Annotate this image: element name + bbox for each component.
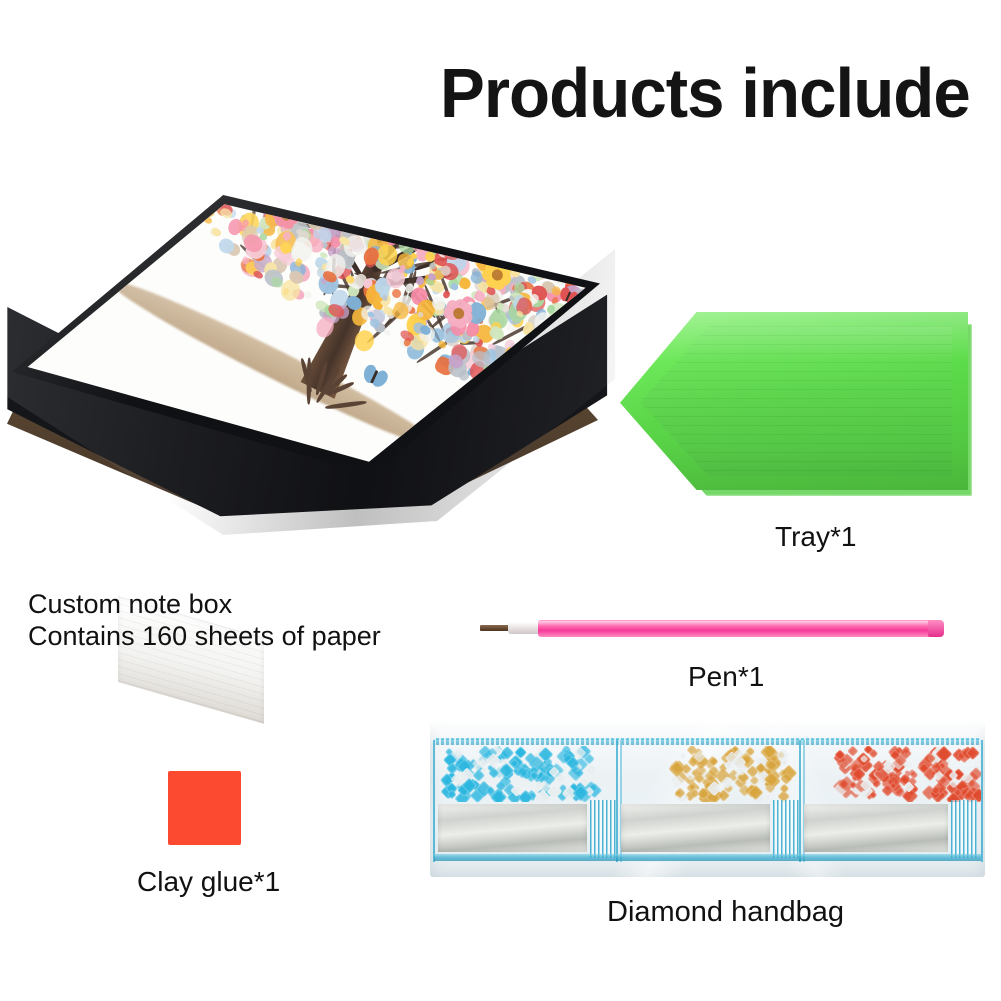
tree-blossom — [202, 195, 215, 202]
tree-blossom — [444, 195, 469, 216]
tree-blossom — [332, 195, 349, 198]
tree-flower-petal — [345, 201, 358, 215]
tree-blossom — [489, 195, 500, 200]
tree-twig — [384, 195, 394, 202]
diamond-handbag-caption: Diamond handbag — [607, 896, 844, 928]
tree-blossom — [506, 209, 525, 230]
tree-blossom — [403, 195, 418, 200]
tree-blossom — [601, 236, 606, 248]
tree-blossom — [342, 195, 364, 197]
tree-blossom — [352, 211, 362, 221]
tree-blossom — [412, 210, 423, 221]
tree-flower-petal — [532, 236, 549, 254]
tree-blossom — [472, 195, 495, 211]
tree-blossom — [585, 202, 598, 215]
tree-blossom — [481, 195, 495, 196]
tree-flower-petal — [540, 220, 557, 238]
tree-blossom — [459, 201, 468, 210]
tree-blossom — [487, 240, 495, 247]
tree-blossom — [465, 225, 484, 244]
rhinestone-fill — [618, 746, 803, 802]
product-pen — [480, 612, 950, 646]
tree-blossom — [516, 203, 526, 213]
tree-blossom — [372, 198, 381, 206]
note-box-caption: Custom note box Contains 160 sheets of p… — [28, 588, 381, 652]
foil-sachet — [621, 804, 770, 852]
tree-blossom — [456, 215, 469, 227]
tree-flower-petal — [574, 195, 587, 199]
tree-blossom — [540, 228, 561, 251]
tree-blossom — [541, 234, 551, 246]
tree-twig — [388, 199, 405, 228]
tree-blossom — [516, 201, 539, 224]
tree-blossom — [482, 208, 494, 220]
tree-blossom — [200, 195, 219, 200]
tree-blossom — [202, 195, 217, 196]
tree-blossom — [565, 217, 575, 228]
tree-blossom — [503, 241, 515, 253]
tree-blossom — [549, 208, 568, 227]
tray-caption: Tray*1 — [775, 521, 856, 553]
tree-blossom — [582, 219, 591, 229]
tree-flower-petal — [585, 195, 598, 196]
tree-blossom — [452, 212, 464, 225]
tree-blossom — [544, 200, 565, 221]
tree-blossom — [443, 210, 464, 233]
tree-blossom — [574, 238, 597, 262]
rhinestone — [679, 752, 688, 761]
tree-twig — [313, 195, 326, 200]
tree-blossom — [383, 221, 392, 231]
pouch-seam-ribs — [951, 800, 977, 858]
tree-blossom — [339, 203, 359, 222]
tree-blossom — [457, 195, 482, 210]
tree-blossom — [586, 254, 594, 262]
tree-flower-petal — [438, 206, 455, 224]
tree-blossom — [363, 200, 375, 212]
tree-twig — [385, 211, 399, 235]
tree-blossom — [584, 195, 600, 205]
tree-blossom — [513, 224, 524, 236]
tree-blossom — [432, 207, 449, 226]
tree-blossom — [437, 212, 453, 228]
tree-flower-petal — [431, 195, 448, 211]
tree-blossom — [438, 235, 450, 247]
tree-blossom — [336, 202, 354, 220]
tree-blossom — [502, 210, 524, 232]
tree-blossom — [589, 195, 606, 216]
tree-blossom — [483, 242, 491, 250]
tree-blossom — [312, 195, 327, 198]
tree-blossom — [588, 195, 599, 197]
tree-blossom — [598, 208, 606, 216]
tree-blossom — [574, 221, 585, 233]
tree-blossom — [294, 195, 315, 204]
tree-blossom — [395, 202, 417, 226]
tree-blossom — [303, 195, 316, 208]
tree-blossom — [355, 195, 379, 207]
tray-gloss — [620, 312, 968, 490]
bag-pouch — [616, 740, 805, 862]
tree-blossom — [300, 200, 314, 215]
tree-blossom — [416, 195, 440, 204]
tree-blossom — [478, 233, 489, 243]
tree-blossom — [392, 195, 410, 212]
tree-blossom — [391, 224, 404, 237]
tree-blossom — [573, 228, 586, 240]
clay-glue-caption: Clay glue*1 — [137, 866, 280, 898]
infographic-canvas: Products include Custom note box Contain… — [0, 0, 1001, 1001]
tree-blossom — [581, 234, 594, 247]
tree-blossom — [519, 208, 535, 225]
tree-blossom — [535, 195, 554, 202]
tree-blossom — [464, 225, 478, 240]
pen-caption: Pen*1 — [688, 661, 764, 693]
tree-blossom — [487, 208, 514, 238]
tree-blossom — [200, 202, 208, 210]
tree-blossom — [567, 225, 584, 241]
product-note-box — [0, 185, 620, 585]
tree-blossom — [522, 249, 539, 267]
tree-flower-petal — [424, 209, 441, 227]
tree-blossom — [473, 195, 499, 206]
tree-blossom — [548, 197, 568, 216]
tree-blossom — [511, 203, 534, 228]
tree-blossom — [602, 201, 606, 223]
tree-blossom — [554, 211, 576, 234]
tree-blossom — [501, 244, 511, 254]
tree-flower-petal — [423, 195, 440, 212]
tree-blossom — [524, 242, 541, 259]
tree-blossom — [381, 195, 399, 211]
tree-blossom — [484, 208, 509, 236]
tree-flower-petal — [332, 204, 345, 218]
tree-flower-center — [539, 231, 554, 246]
bag-bottom-seam — [434, 854, 981, 861]
tree-blossom — [190, 195, 204, 205]
tree-blossom — [552, 207, 567, 223]
tree-blossom — [571, 214, 590, 233]
tree-blossom — [532, 195, 551, 208]
tree-blossom — [537, 230, 559, 251]
tree-blossom — [442, 210, 465, 235]
tree-blossom — [441, 201, 463, 224]
tree-blossom — [507, 210, 527, 232]
rhinestone — [869, 748, 879, 758]
tree-blossom — [444, 195, 467, 210]
tree-blossom — [402, 209, 415, 221]
tree-blossom — [388, 197, 412, 224]
tree-blossom — [411, 195, 434, 208]
tree-flower-petal — [580, 195, 593, 200]
tree-flower-petal — [340, 197, 353, 211]
tree-blossom — [498, 195, 521, 207]
tree-flower-petal — [532, 221, 549, 239]
tree-blossom — [524, 195, 534, 199]
tree-blossom — [465, 195, 478, 199]
tree-blossom — [394, 195, 412, 204]
tree-blossom — [409, 220, 417, 228]
pen-end-cap — [928, 620, 944, 637]
tree-blossom — [485, 195, 498, 196]
tree-blossom — [343, 195, 356, 205]
tree-blossom — [446, 204, 470, 229]
tree-blossom — [586, 244, 596, 255]
tree-blossom — [420, 204, 445, 230]
tree-twig — [471, 245, 509, 251]
tree-blossom — [520, 238, 541, 259]
tree-blossom — [540, 203, 563, 225]
tree-flower-petal — [438, 198, 455, 216]
tree-blossom — [595, 236, 606, 254]
tree-blossom — [321, 195, 333, 202]
tree-flower-petal — [334, 199, 347, 213]
pen-ferrule — [508, 622, 542, 634]
tree-blossom — [416, 200, 430, 216]
product-clay-glue — [168, 771, 241, 845]
tree-blossom — [488, 209, 512, 234]
tree-blossom — [586, 218, 596, 229]
rhinestone-fill — [435, 746, 620, 802]
pen-metal-tip — [480, 625, 510, 631]
tree-blossom — [423, 209, 448, 237]
tree-flower-petal — [546, 233, 563, 251]
tree-flower-petal — [528, 229, 545, 247]
foil-sachet — [438, 804, 587, 852]
tree-blossom — [543, 252, 556, 265]
tree-blossom — [425, 195, 449, 197]
tree-flower-center — [431, 204, 446, 219]
tree-blossom — [457, 224, 466, 233]
tree-blossom — [595, 234, 606, 245]
tree-twig — [419, 212, 425, 237]
tree-blossom — [366, 204, 390, 230]
tree-twig — [329, 199, 343, 222]
tree-blossom — [513, 195, 535, 198]
tree-blossom — [553, 195, 576, 220]
tree-flower-petal — [420, 202, 437, 220]
tree-blossom — [499, 234, 515, 249]
tree-blossom — [527, 208, 548, 228]
tree-blossom — [359, 195, 384, 208]
tree-blossom — [373, 195, 395, 208]
tree-blossom — [358, 195, 380, 213]
tree-flower-petal — [346, 208, 359, 222]
tree-blossom — [564, 195, 584, 199]
tree-blossom — [559, 203, 577, 220]
tree-blossom — [547, 227, 564, 246]
tree-twig — [456, 218, 469, 232]
bag-pouch — [799, 740, 983, 862]
tree-blossom — [300, 195, 307, 201]
tree-blossom — [549, 229, 563, 243]
tree-blossom — [343, 200, 352, 209]
tree-blossom — [437, 229, 448, 240]
tree-twig — [366, 195, 376, 197]
tree-blossom — [470, 195, 492, 207]
tree-blossom — [487, 195, 499, 202]
tree-blossom — [394, 221, 402, 230]
pen-highlight — [538, 621, 938, 626]
tree-flower-petal — [540, 238, 557, 256]
tree-blossom — [421, 195, 443, 205]
tree-blossom — [500, 214, 523, 235]
tree-blossom — [429, 208, 441, 220]
bag-pouch — [433, 740, 622, 862]
tree-blossom — [482, 221, 491, 231]
tree-branch — [391, 195, 415, 214]
tree-blossom — [544, 208, 552, 216]
tree-blossom — [506, 242, 520, 256]
tree-blossom — [509, 195, 521, 207]
tree-blossom — [277, 195, 296, 198]
rhinestone — [764, 793, 772, 801]
tree-blossom — [476, 241, 483, 248]
tree-blossom — [595, 226, 606, 244]
tree-blossom — [426, 220, 437, 232]
tree-blossom — [581, 195, 606, 215]
tree-blossom — [555, 195, 580, 197]
tree-twig — [371, 195, 389, 228]
tree-branch — [408, 195, 472, 247]
tree-blossom — [368, 195, 391, 218]
tree-blossom — [449, 229, 466, 247]
tree-blossom — [447, 195, 459, 197]
rhinestone-fill — [801, 746, 981, 802]
tree-blossom — [297, 195, 317, 207]
tree-blossom — [472, 208, 486, 223]
tree-blossom — [482, 221, 496, 234]
tree-blossom — [462, 225, 473, 237]
tree-blossom — [369, 195, 377, 201]
tree-blossom — [285, 195, 295, 199]
tree-blossom — [292, 195, 315, 199]
tree-blossom — [444, 220, 463, 239]
pouch-seam-ribs — [773, 800, 799, 858]
tree-blossom — [442, 199, 458, 214]
tree-blossom — [557, 255, 569, 268]
tree-blossom — [532, 231, 557, 256]
tree-twig — [416, 195, 429, 207]
tree-flower-petal — [432, 211, 449, 229]
product-diamond-handbag — [430, 722, 985, 877]
tree-blossom — [492, 195, 503, 199]
tree-flower-petal — [546, 225, 563, 243]
diamond-handbag-bag — [430, 722, 985, 877]
tree-blossom — [539, 210, 556, 229]
tree-twig — [383, 203, 406, 208]
page-title: Products include — [440, 58, 987, 128]
tree-blossom — [568, 247, 581, 260]
tree-blossom — [571, 217, 597, 244]
tree-flower-center — [338, 204, 353, 219]
tree-branch — [362, 195, 373, 227]
tree-blossom — [500, 217, 514, 231]
tree-blossom — [482, 228, 507, 256]
tree-blossom — [527, 238, 548, 261]
tree-blossom — [432, 205, 454, 229]
product-tray — [620, 312, 978, 502]
pouch-seam-ribs — [590, 800, 616, 858]
foil-sachet — [804, 804, 948, 852]
tree-blossom — [501, 226, 513, 239]
tree-blossom — [531, 211, 541, 223]
tree-blossom — [416, 196, 437, 217]
tree-blossom — [458, 195, 473, 202]
tree-blossom — [410, 223, 419, 233]
tree-blossom — [446, 228, 462, 242]
tree-blossom — [412, 221, 425, 235]
